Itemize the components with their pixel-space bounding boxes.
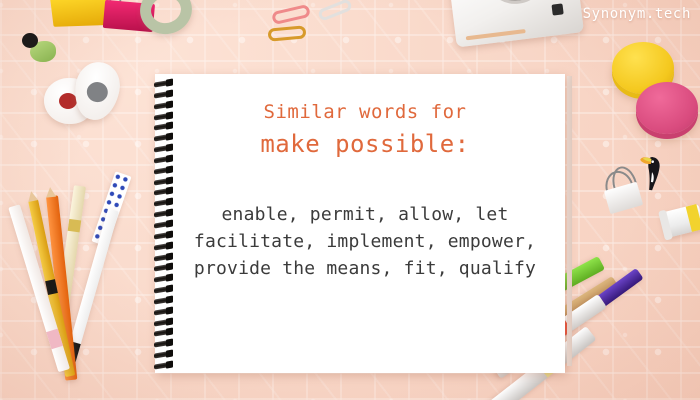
pencil-yellow-tip xyxy=(26,190,38,202)
spiral-ring xyxy=(154,242,173,250)
spiral-ring xyxy=(154,340,173,348)
spiral-ring xyxy=(154,286,173,294)
toucan-sticker xyxy=(636,151,666,193)
spiral-ring xyxy=(154,199,173,207)
eraser-gray-center xyxy=(85,80,109,103)
spiral-ring xyxy=(154,177,173,185)
spiral-ring xyxy=(154,296,173,304)
spiral-ring xyxy=(154,112,173,120)
spiral-ring xyxy=(154,134,173,142)
spiral-ring xyxy=(154,101,173,109)
spiral-ring xyxy=(154,307,173,315)
spiral-binding xyxy=(152,81,174,369)
spiral-ring xyxy=(154,253,173,261)
page-edge xyxy=(567,76,572,366)
synonyms-text: enable, permit, allow, let facilitate, i… xyxy=(175,201,555,282)
camera-shutter-button xyxy=(551,3,563,15)
spiral-ring xyxy=(154,231,173,239)
toucan-icon xyxy=(636,151,666,193)
notebook: Similar words for make possible: enable,… xyxy=(152,70,568,375)
spiral-ring xyxy=(154,145,173,153)
binder-clip-yellow-body xyxy=(50,0,110,27)
spiral-ring xyxy=(154,90,173,98)
notebook-page: Similar words for make possible: enable,… xyxy=(155,74,565,373)
page-text-block: Similar words for make possible: enable,… xyxy=(175,98,555,282)
heading-similar-words-for: Similar words for xyxy=(175,98,555,126)
spiral-ring xyxy=(154,351,173,359)
spiral-ring xyxy=(154,361,173,369)
spiral-ring xyxy=(154,123,173,131)
bird-eraser xyxy=(20,33,54,63)
spiral-ring xyxy=(154,210,173,218)
pencil-orange-tip xyxy=(45,187,56,198)
spiral-ring xyxy=(154,318,173,326)
spiral-ring xyxy=(154,220,173,228)
macaron-pink xyxy=(636,82,698,134)
spiral-ring xyxy=(154,264,173,272)
spiral-ring xyxy=(154,155,173,163)
spiral-ring xyxy=(154,188,173,196)
watermark-brand: Synonym.tech xyxy=(583,6,691,22)
spiral-ring xyxy=(154,275,173,283)
spiral-ring xyxy=(154,166,173,174)
camera-grip-strip xyxy=(466,29,526,40)
spiral-ring xyxy=(154,79,173,87)
spiral-ring xyxy=(154,329,173,337)
heading-query-term: make possible: xyxy=(175,128,555,161)
camera-lens xyxy=(481,0,550,7)
glue-stick-band xyxy=(686,204,700,232)
